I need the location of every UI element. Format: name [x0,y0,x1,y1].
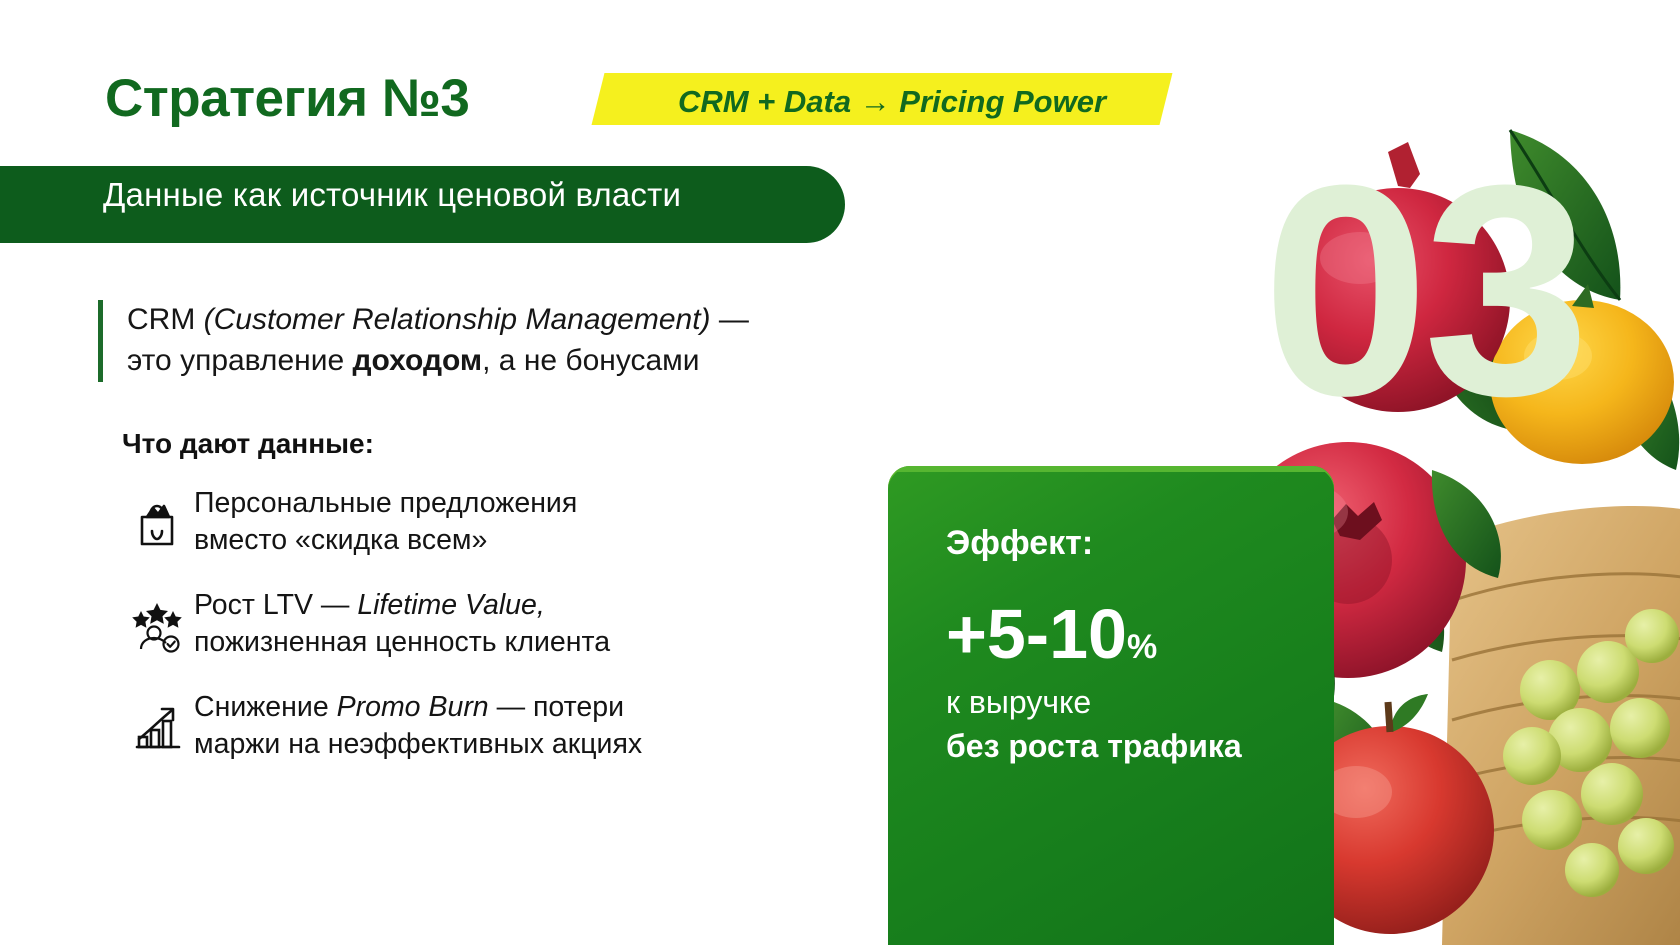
list-item-italic: Lifetime Value, [357,589,544,621]
list-item-line2: пожизненная ценность клиента [194,626,610,658]
page-title: Стратегия №3 [105,68,469,129]
list-item-suffix: — потери [489,691,624,723]
list-item: Персональные предложения вместо «скидка … [120,483,860,559]
list-item-text: Снижение Promo Burn — потери маржи на не… [194,687,642,763]
definition-line1-tail: — [711,303,749,336]
definition-line1-plain: CRM [127,303,204,336]
list-item-prefix: Рост LTV — [194,589,357,621]
list-item-text: Персональные предложения вместо «скидка … [194,483,577,559]
list-item: Рост LTV — Lifetime Value, пожизненная ц… [120,585,860,661]
effect-card-sub2: без роста трафика [946,728,1242,765]
list-heading: Что дают данные: [122,428,374,460]
definition-line2-post: , а не бонусами [482,344,699,377]
stars-user-icon [120,585,194,661]
shopping-bag-icon [120,483,194,559]
definition-block: CRM (Customer Relationship Management) —… [98,300,887,382]
slide-number-watermark: 03 [1262,140,1584,440]
effect-card-sub1: к выручке [946,684,1091,721]
bar-chart-up-icon [120,687,194,763]
list-item-italic: Promo Burn [337,691,489,723]
definition-line1-italic: (Customer Relationship Management) [204,303,711,336]
list-item-line2: вместо «скидка всем» [194,524,487,556]
list-item-text: Рост LTV — Lifetime Value, пожизненная ц… [194,585,610,661]
effect-card-label: Эффект: [946,524,1093,563]
list-item: Снижение Promo Burn — потери маржи на не… [120,687,860,763]
definition-line2-bold: доходом [352,344,482,377]
effect-card-value: +5-10% [946,599,1157,669]
benefits-list: Персональные предложения вместо «скидка … [120,483,860,789]
effect-card-value-number: +5-10 [946,595,1127,673]
effect-card: Эффект: +5-10% к выручке без роста трафи… [888,466,1334,945]
effect-card-value-unit: % [1127,628,1157,666]
list-item-line2: маржи на неэффективных акциях [194,728,642,760]
definition-line2-pre: это управление [127,344,352,377]
tagline-badge-label: CRM + Data → Pricing Power [612,84,1172,120]
slide: 03 Стратегия №3 CRM + Data → Pricing Pow… [0,0,1680,945]
list-item-prefix: Снижение [194,691,337,723]
definition-text: CRM (Customer Relationship Management) —… [127,300,887,382]
list-item-line1: Персональные предложения [194,487,577,519]
subtitle-label: Данные как источник ценовой власти [103,176,681,214]
